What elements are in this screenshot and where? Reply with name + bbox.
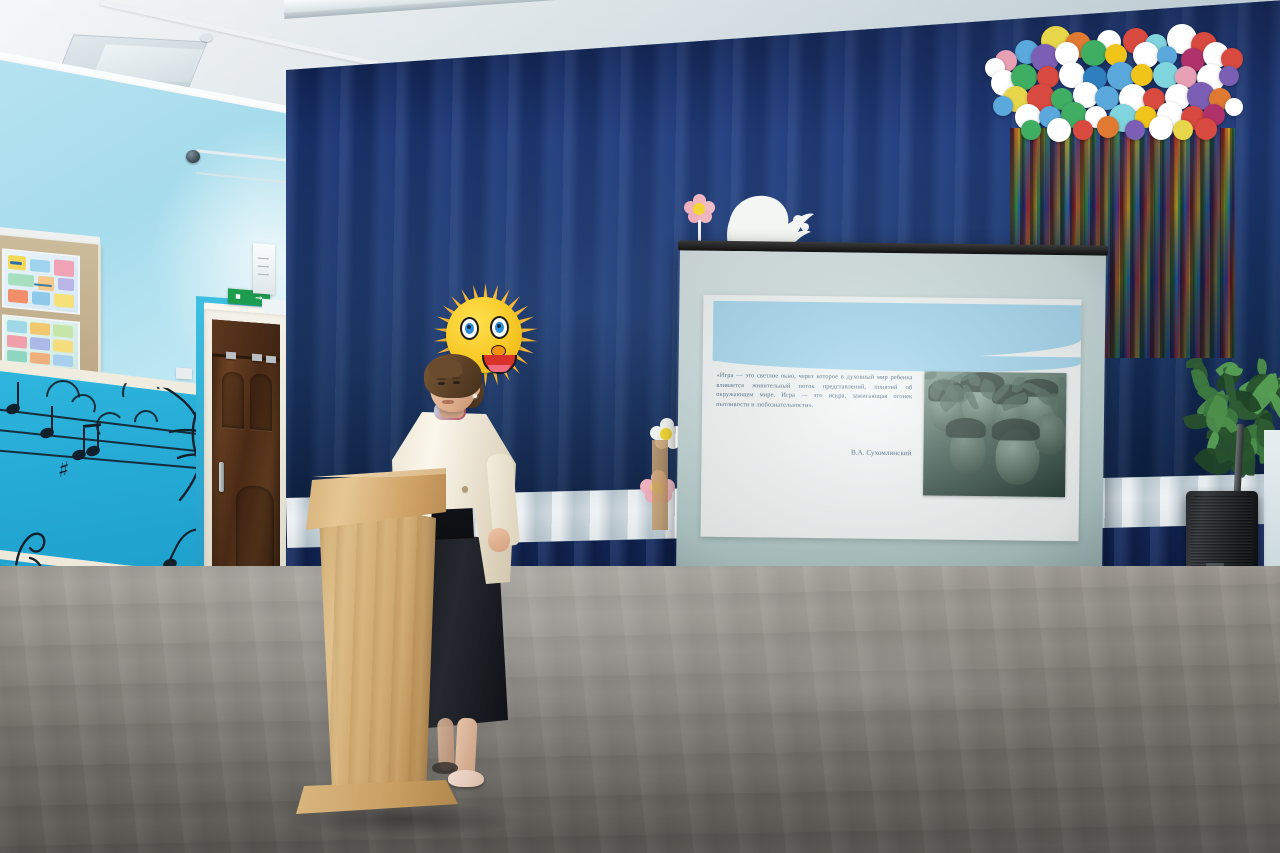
presentation-hall-photo: ♯ ■ ➞ [0, 0, 1280, 853]
poster-detail [54, 293, 74, 308]
door-hinge-bottom [266, 356, 276, 364]
decorative-swirl [95, 411, 126, 442]
paper-circle [1097, 116, 1119, 138]
paper-circle [1073, 120, 1093, 140]
music-note-stem [17, 382, 19, 408]
presenter-shoe-front [448, 770, 484, 787]
paper-circle [1219, 66, 1239, 86]
presenter-fringe [428, 358, 462, 378]
poster-detail [53, 354, 73, 367]
poster-detail [58, 278, 74, 292]
music-note-stem [83, 428, 85, 454]
presenter-eye-left [438, 382, 445, 385]
paper-circle [1149, 116, 1173, 140]
running-man-icon: ■ [235, 292, 240, 301]
poster-detail [30, 352, 50, 365]
paper-circle [1131, 64, 1153, 86]
door-handle[interactable] [219, 462, 224, 492]
screen-vignette [676, 250, 1106, 573]
sun-eye-left [460, 317, 479, 340]
presenter-mouth [442, 400, 454, 404]
paper-circle [1081, 40, 1107, 66]
poster-detail [53, 324, 73, 338]
paper-circle [993, 96, 1013, 116]
poster-detail [8, 289, 28, 304]
presenter-hand [488, 528, 510, 552]
paper-circle [1021, 120, 1041, 140]
poster-detail [54, 259, 74, 277]
projection-screen: «Игра — это светлое окно, через которое … [674, 240, 1108, 590]
door-hinge-top [226, 352, 236, 360]
poster-detail [8, 273, 34, 288]
lectern-wood-grain [318, 496, 436, 796]
paper-circle [1225, 98, 1243, 116]
paper-circle [1195, 118, 1217, 140]
presenter-jacket-button [462, 486, 468, 492]
floor-light-reflection [700, 640, 1060, 720]
poster-detail [53, 339, 73, 353]
floor-gloss [0, 566, 1280, 853]
poster-detail [30, 259, 50, 273]
decor-stand [652, 440, 668, 530]
plant-leaf [1191, 367, 1212, 398]
presenter-eye-right [453, 381, 460, 384]
balloon-cloud-decoration [985, 18, 1255, 153]
paper-circle [1125, 120, 1145, 140]
sun-eye-right [490, 316, 509, 339]
ceiling-fixture [200, 33, 213, 42]
presenter-brow-left [437, 378, 446, 380]
door-hinge-mid [252, 354, 262, 362]
presenter-earring [473, 394, 477, 398]
door-panel-upper-right [250, 373, 272, 431]
poster-detail [30, 337, 50, 351]
presenter-brow-right [452, 377, 461, 379]
poster-detail [7, 320, 27, 334]
wall-thermometer [253, 243, 275, 295]
door-panel-lower [236, 485, 274, 572]
sharp-sign-icon: ♯ [57, 459, 71, 482]
poster-detail [32, 291, 50, 306]
paper-circle [1047, 118, 1071, 142]
poster-detail [30, 322, 50, 336]
poster-upper [2, 248, 80, 315]
poster-detail [7, 335, 27, 349]
door-panel-upper [222, 371, 244, 429]
paper-circle [1173, 120, 1193, 140]
security-camera-icon [186, 150, 200, 163]
light-switch[interactable] [176, 367, 192, 379]
